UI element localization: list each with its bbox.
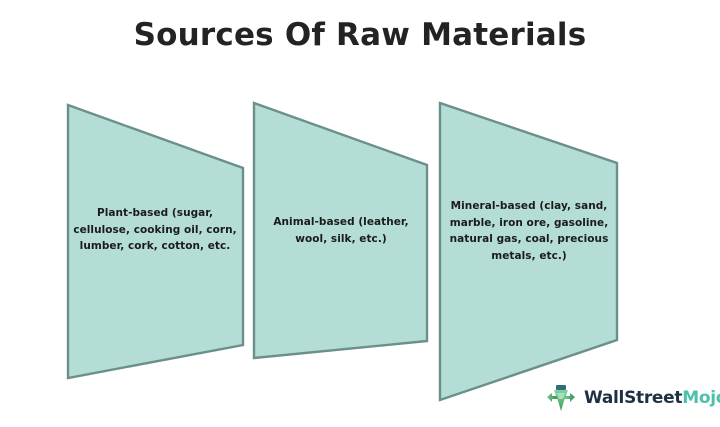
diagram-stage: Plant-based (sugar, cellulose, cooking o… bbox=[0, 0, 720, 427]
wallstreetmojo-bull-logo-icon bbox=[544, 381, 578, 415]
shape-label-animal-based: Animal-based (leather, wool, silk, etc.) bbox=[256, 214, 426, 247]
diagram-canvas: Sources Of Raw Materials Plant-based (su… bbox=[0, 0, 720, 427]
shape-label-mineral-based: Mineral-based (clay, sand, marble, iron … bbox=[442, 198, 616, 264]
watermark-logo[interactable]: WallStreetMojo bbox=[544, 379, 714, 417]
shape-label-plant-based: Plant-based (sugar, cellulose, cooking o… bbox=[70, 205, 240, 255]
brand-name-primary: WallStreet bbox=[584, 388, 682, 408]
brand-name-secondary: Mojo bbox=[682, 388, 720, 408]
watermark-brand-text: WallStreetMojo bbox=[584, 390, 720, 407]
